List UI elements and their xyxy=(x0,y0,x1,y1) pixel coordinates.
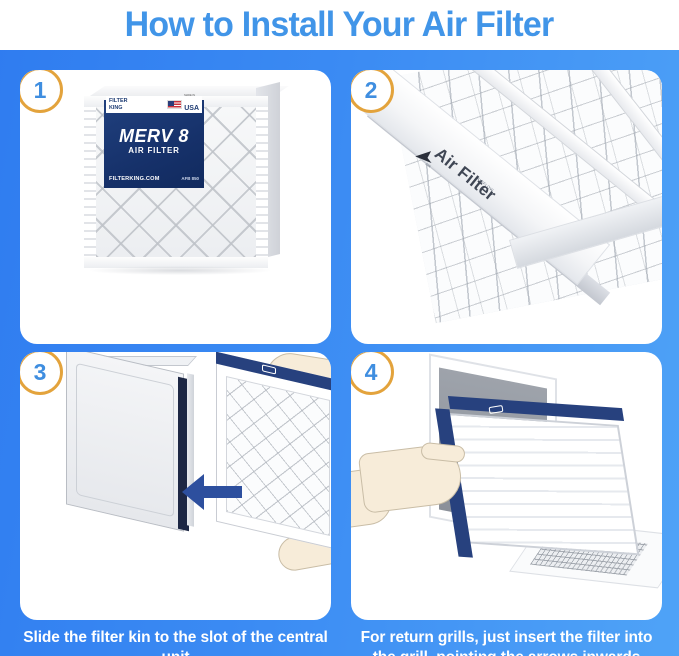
steps-grid: MERV 8 AIR FILTER FILTERKING.COM AFB 850… xyxy=(0,50,679,656)
merv-rating-text: MERV 8 xyxy=(104,126,204,147)
step-card-2: AIR Air Filter AIRFLOW 2 Locate the arro… xyxy=(351,70,662,344)
brand-line-1: FILTER xyxy=(109,98,127,104)
filter-frame-right xyxy=(256,96,268,268)
label-footer: FILTERKING.COM AFB 850 xyxy=(109,176,199,182)
made-in-usa-badge: MADE IN USA xyxy=(167,94,199,115)
made-in-text: MADE IN xyxy=(184,94,199,97)
step-3-illustration xyxy=(20,352,331,620)
grill-louver-door xyxy=(443,413,640,556)
step-card-3: 3 Slide the filter kin to the slot of th… xyxy=(20,352,331,620)
brand-line-2: KING xyxy=(109,105,122,111)
step-4-illustration xyxy=(351,352,662,620)
rating-code-text: AFB 850 xyxy=(181,176,199,181)
step-card-4: 4 For return grills, just insert the fil… xyxy=(351,352,662,620)
label-brand-row: FILTER KING MADE IN USA xyxy=(106,96,202,113)
title-band: How to Install Your Air Filter xyxy=(0,0,679,50)
filter-frame-left xyxy=(84,96,96,268)
step-2-illustration: AIR Air Filter AIRFLOW xyxy=(351,70,662,344)
step-1-illustration: MERV 8 AIR FILTER FILTERKING.COM AFB 850… xyxy=(20,70,331,344)
product-shadow xyxy=(90,266,270,275)
website-text: FILTERKING.COM xyxy=(109,176,160,182)
step-caption-3: Slide the filter kin to the slot of the … xyxy=(20,628,331,656)
page-title: How to Install Your Air Filter xyxy=(125,5,554,45)
step-1-card-surface: MERV 8 AIR FILTER FILTERKING.COM AFB 850… xyxy=(20,70,331,344)
central-unit-panel-outline xyxy=(76,363,174,518)
product-type-text: AIR FILTER xyxy=(104,146,204,155)
filter-panel xyxy=(216,352,331,550)
step-caption-4: For return grills, just insert the filte… xyxy=(351,628,662,656)
direction-arrow-icon xyxy=(180,470,242,519)
step-3-card-surface: 3 xyxy=(20,352,331,620)
country-text: USA xyxy=(184,105,199,112)
step-2-card-surface: AIR Air Filter AIRFLOW 2 xyxy=(351,70,662,344)
step-card-1: MERV 8 AIR FILTER FILTERKING.COM AFB 850… xyxy=(20,70,331,344)
brand-logo: FILTER KING xyxy=(109,98,127,111)
usa-flag-icon xyxy=(167,100,182,109)
step-4-card-surface: 4 xyxy=(351,352,662,620)
made-in-usa-text: MADE IN USA xyxy=(184,94,199,115)
